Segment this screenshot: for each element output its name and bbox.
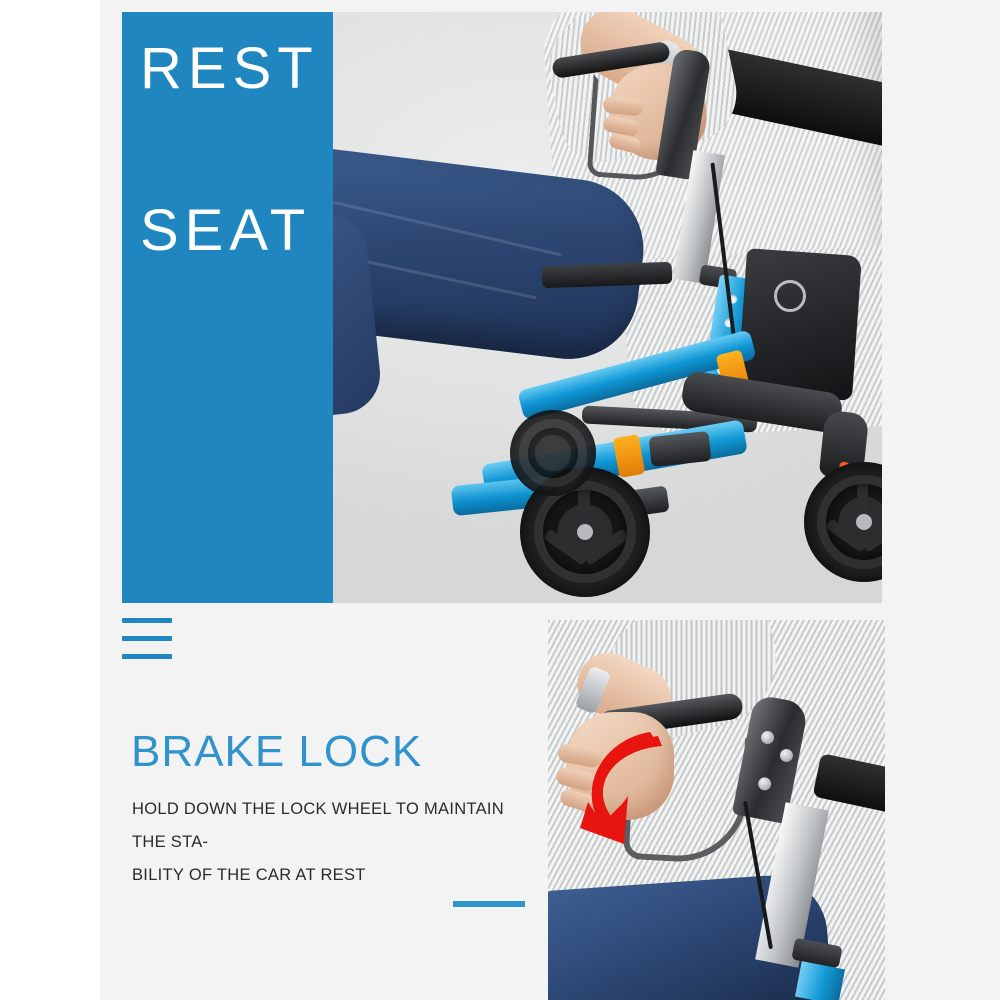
hamburger-bar-2: [122, 636, 172, 641]
rest-seat-label-panel: REST SEAT: [122, 12, 333, 603]
brake-lock-detail-photo: [548, 620, 885, 1000]
bag-ring: [774, 280, 806, 312]
label-rest: REST: [140, 40, 319, 98]
feature-description-line-1: HOLD DOWN THE LOCK WHEEL TO MAINTAIN THE…: [132, 793, 532, 859]
label-seat: SEAT: [140, 202, 311, 260]
seat-pad: [542, 262, 673, 289]
feature-description-line-2: BILITY OF THE CAR AT REST: [132, 859, 532, 892]
rear-small-wheel: [510, 410, 596, 496]
rear-wheel: [804, 462, 882, 582]
blue-divider-rule: [453, 901, 525, 907]
frame-hinge-clamp: [649, 431, 712, 467]
feature-heading: BRAKE LOCK: [131, 730, 422, 774]
hamburger-bar-1: [122, 618, 172, 623]
storage-bag: [737, 248, 862, 401]
feature-description: HOLD DOWN THE LOCK WHEEL TO MAINTAIN THE…: [132, 793, 532, 892]
red-rotation-arrow-icon: [578, 730, 688, 845]
hamburger-icon[interactable]: [122, 618, 172, 660]
hamburger-bar-3: [122, 654, 172, 659]
product-feature-page: REST SEAT BRAKE LOCK HOLD DOWN THE LOCK …: [0, 0, 1000, 1000]
